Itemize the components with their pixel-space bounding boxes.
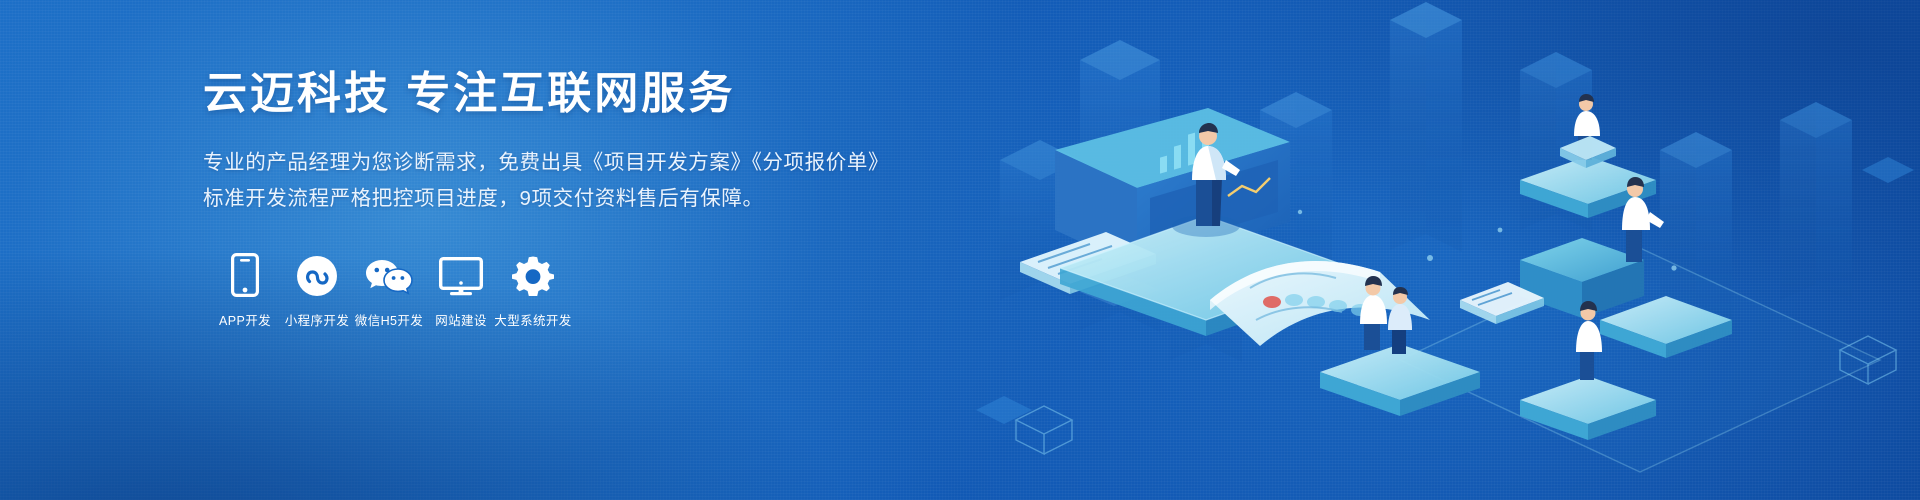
subtitle-line-1: 专业的产品经理为您诊断需求，免费出具《项目开发方案》《分项报价单》 <box>203 145 963 181</box>
service-list: APP开发 小程序开发 <box>209 251 963 329</box>
subtitle-line-2: 标准开发流程严格把控项目进度，9项交付资料售后有保障。 <box>203 181 963 217</box>
hero-banner: 云迈科技 专注互联网服务 专业的产品经理为您诊断需求，免费出具《项目开发方案》《… <box>0 0 1920 500</box>
page-title: 云迈科技 专注互联网服务 <box>203 68 963 121</box>
mobile-phone-icon <box>231 251 259 297</box>
service-item-wechat-h5[interactable]: 微信H5开发 <box>353 251 425 329</box>
service-label: 大型系统开发 <box>494 310 571 329</box>
service-label: APP开发 <box>219 310 271 329</box>
service-label: 小程序开发 <box>285 310 350 329</box>
monitor-icon <box>439 251 483 297</box>
gear-icon <box>512 251 554 297</box>
service-item-website[interactable]: 网站建设 <box>425 251 497 329</box>
service-item-mini-program[interactable]: 小程序开发 <box>281 251 353 329</box>
service-item-app[interactable]: APP开发 <box>209 251 281 329</box>
service-label: 微信H5开发 <box>355 310 423 329</box>
wechat-icon <box>365 251 413 297</box>
illustration-isometric-data-platform <box>960 0 1920 500</box>
mini-program-icon <box>296 251 338 297</box>
service-item-large-system[interactable]: 大型系统开发 <box>497 251 569 329</box>
service-label: 网站建设 <box>435 310 487 329</box>
banner-content: 云迈科技 专注互联网服务 专业的产品经理为您诊断需求，免费出具《项目开发方案》《… <box>203 68 963 329</box>
banner-subtitle: 专业的产品经理为您诊断需求，免费出具《项目开发方案》《分项报价单》 标准开发流程… <box>203 145 963 217</box>
